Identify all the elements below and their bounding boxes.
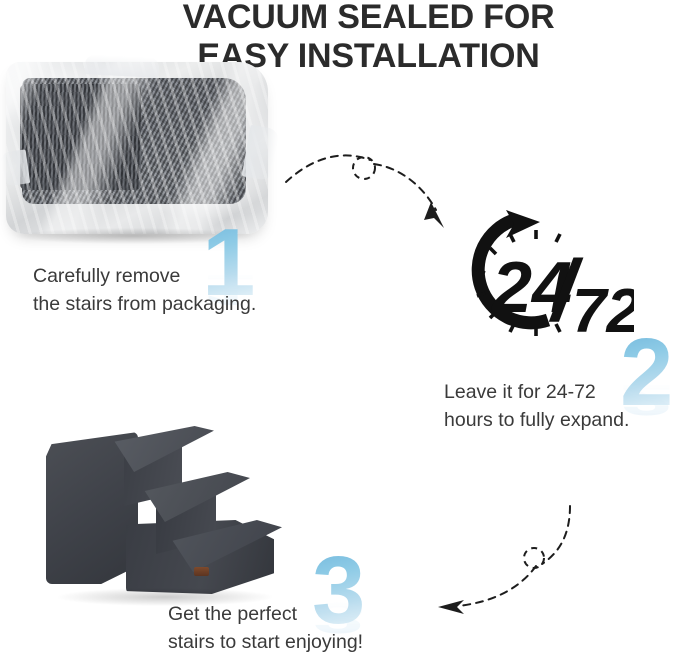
stairs-brand-tag: [194, 567, 209, 576]
package-seal-top: [84, 54, 159, 78]
clock-24-72-icon: 24 / 72: [448, 208, 634, 350]
page-title-line-1: VACUUM SEALED FOR: [0, 0, 679, 37]
package-seal-left: [0, 150, 30, 187]
step-2-caption: Leave it for 24-72 hours to fully expand…: [444, 378, 629, 435]
pet-stairs-photo: [46, 424, 278, 594]
step-3-caption: Get the perfect stairs to start enjoying…: [168, 600, 363, 657]
dashed-arrow-step2-to-step3: [424, 502, 596, 631]
infographic-canvas: VACUUM SEALED FOR EASY INSTALLATION 1 Ca…: [0, 0, 679, 663]
dashed-arrow-step1-to-step2: [284, 146, 456, 237]
step-1-caption: Carefully remove the stairs from packagi…: [33, 262, 256, 319]
